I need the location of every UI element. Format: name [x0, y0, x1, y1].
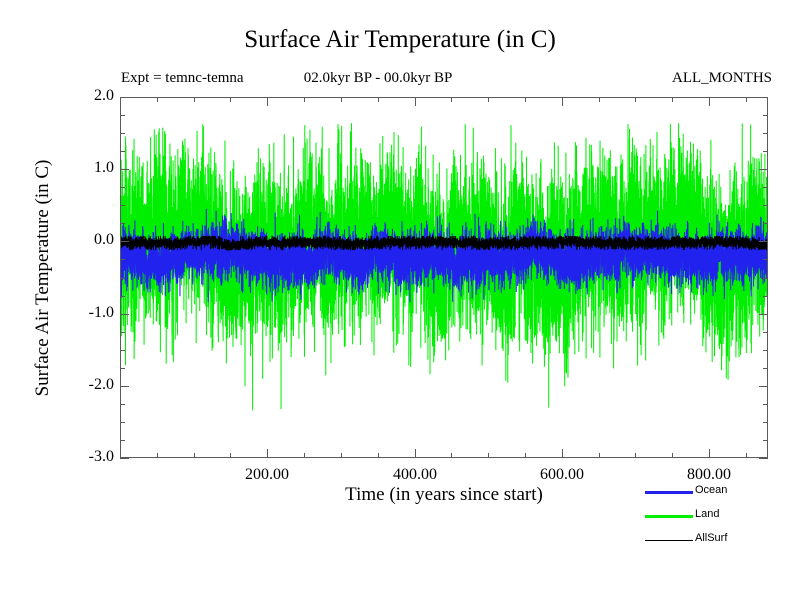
x-tick-minor-top [635, 97, 636, 102]
y-tick-minor [120, 368, 125, 369]
y-tick-label: 2.0 [58, 87, 114, 105]
y-tick-minor [120, 296, 125, 297]
x-tick-minor-top [378, 97, 379, 102]
y-tick-minor [120, 332, 125, 333]
y-tick-major-right [759, 458, 768, 459]
y-tick-major-right [759, 241, 768, 242]
y-tick-minor [120, 350, 125, 351]
x-tick-label: 400.00 [360, 466, 470, 484]
y-tick-minor [120, 133, 125, 134]
x-tick-minor [157, 453, 158, 458]
y-tick-minor-right [763, 205, 768, 206]
legend-label: AllSurf [695, 532, 727, 544]
x-tick-minor-top [525, 97, 526, 102]
y-tick-minor-right [763, 259, 768, 260]
y-tick-major [120, 241, 129, 242]
x-tick-minor-top [341, 97, 342, 102]
y-tick-major [120, 97, 129, 98]
x-tick-minor [746, 453, 747, 458]
subtitle-period: 02.0kyr BP - 00.0kyr BP [0, 70, 778, 87]
x-tick-major-top [415, 97, 416, 106]
x-tick-minor-top [672, 97, 673, 102]
x-tick-minor-top [451, 97, 452, 102]
y-tick-minor-right [763, 187, 768, 188]
legend-item-allsurf[interactable]: AllSurf [645, 531, 795, 555]
y-tick-major [120, 314, 129, 315]
y-tick-minor [120, 205, 125, 206]
plot-area [120, 97, 768, 458]
y-tick-minor-right [763, 404, 768, 405]
y-tick-minor-right [763, 223, 768, 224]
x-tick-minor [341, 453, 342, 458]
x-tick-minor [304, 453, 305, 458]
x-tick-label: 800.00 [654, 466, 764, 484]
y-tick-minor [120, 115, 125, 116]
legend-item-ocean[interactable]: Ocean [645, 483, 795, 507]
y-tick-label: -1.0 [58, 304, 114, 322]
series-canvas [121, 98, 767, 457]
y-tick-minor [120, 187, 125, 188]
x-tick-major [709, 449, 710, 458]
y-tick-minor [120, 223, 125, 224]
y-tick-major-right [759, 97, 768, 98]
y-tick-minor-right [763, 296, 768, 297]
x-tick-minor [635, 453, 636, 458]
legend-item-land[interactable]: Land [645, 507, 795, 531]
page-title: Surface Air Temperature (in C) [0, 26, 800, 54]
y-axis-title-text: Surface Air Temperature (in C) [32, 159, 54, 396]
x-tick-minor-top [746, 97, 747, 102]
x-tick-label: 200.00 [212, 466, 322, 484]
x-tick-major-top [709, 97, 710, 106]
y-tick-minor [120, 278, 125, 279]
y-tick-minor [120, 259, 125, 260]
legend-label: Land [695, 508, 719, 520]
y-tick-minor-right [763, 332, 768, 333]
y-tick-major-right [759, 314, 768, 315]
x-tick-minor-top [488, 97, 489, 102]
y-tick-minor [120, 151, 125, 152]
y-tick-minor-right [763, 151, 768, 152]
x-tick-major [562, 449, 563, 458]
subtitle-months: ALL_MONTHS [672, 70, 772, 87]
x-tick-major-top [267, 97, 268, 106]
y-tick-major-right [759, 169, 768, 170]
x-tick-minor-top [157, 97, 158, 102]
x-tick-minor [230, 453, 231, 458]
x-tick-minor-top [599, 97, 600, 102]
y-tick-minor-right [763, 133, 768, 134]
legend-label: Ocean [695, 484, 727, 496]
legend-swatch-ocean [645, 491, 693, 494]
x-tick-minor-top [194, 97, 195, 102]
y-tick-minor-right [763, 422, 768, 423]
x-tick-minor [451, 453, 452, 458]
x-tick-minor [672, 453, 673, 458]
y-tick-major [120, 386, 129, 387]
x-tick-major [267, 449, 268, 458]
legend-swatch-land [645, 515, 693, 518]
x-tick-label: 600.00 [507, 466, 617, 484]
y-tick-major [120, 458, 129, 459]
y-tick-minor [120, 440, 125, 441]
y-tick-minor [120, 422, 125, 423]
x-tick-major [415, 449, 416, 458]
y-tick-minor-right [763, 115, 768, 116]
y-tick-major-right [759, 386, 768, 387]
x-tick-minor [194, 453, 195, 458]
x-tick-minor [488, 453, 489, 458]
y-axis-title: Surface Air Temperature (in C) [30, 97, 56, 458]
x-tick-major-top [562, 97, 563, 106]
y-tick-major [120, 169, 129, 170]
y-tick-minor-right [763, 368, 768, 369]
y-tick-label: 1.0 [58, 159, 114, 177]
y-tick-label: 0.0 [58, 231, 114, 249]
legend: OceanLandAllSurf [645, 483, 795, 555]
chart-page: Surface Air Temperature (in C) Expt = te… [0, 0, 800, 600]
x-tick-minor [599, 453, 600, 458]
legend-swatch-allsurf [645, 540, 693, 541]
y-tick-minor-right [763, 278, 768, 279]
y-tick-label: -3.0 [58, 448, 114, 466]
x-tick-minor-top [304, 97, 305, 102]
x-tick-minor [378, 453, 379, 458]
y-tick-label: -2.0 [58, 376, 114, 394]
x-tick-minor-top [230, 97, 231, 102]
x-tick-minor [525, 453, 526, 458]
y-tick-minor-right [763, 350, 768, 351]
y-tick-minor-right [763, 440, 768, 441]
y-tick-minor [120, 404, 125, 405]
